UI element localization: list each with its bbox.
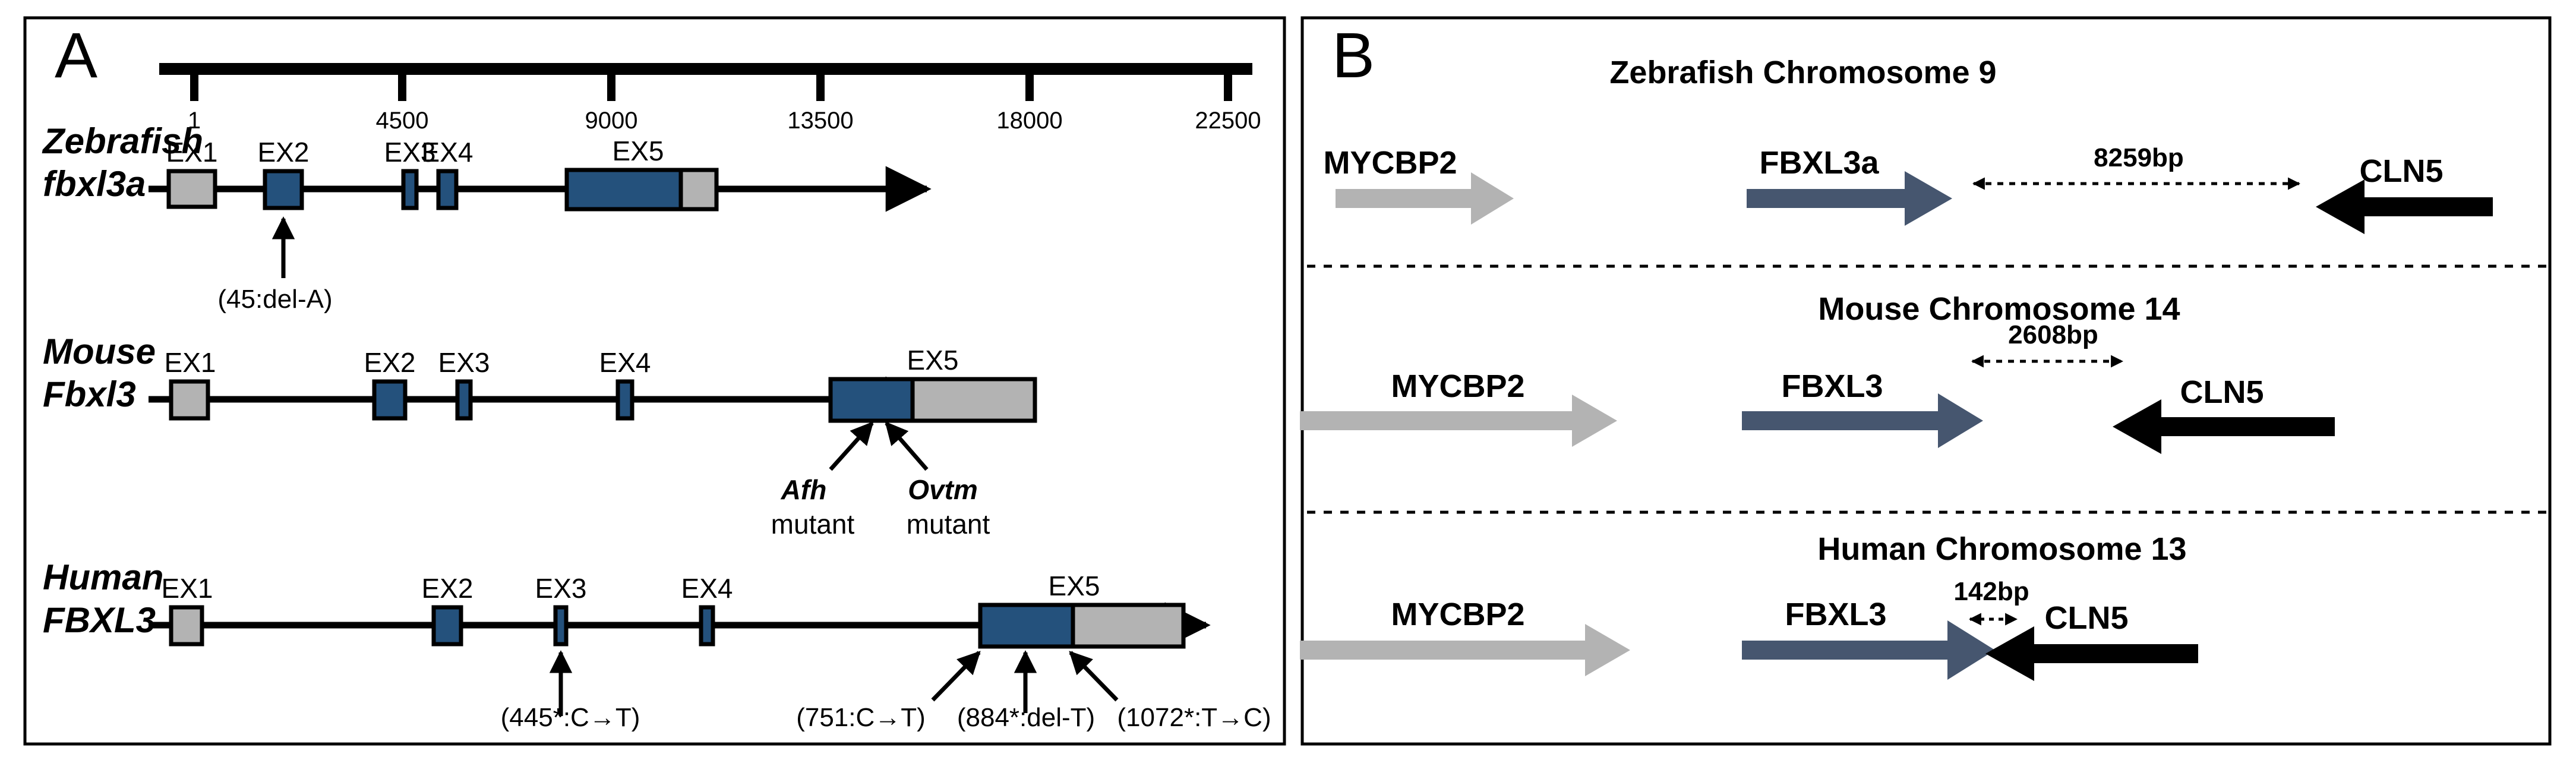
panel-a-letter: A [55,19,97,91]
panel-b-letter: B [1332,19,1375,91]
gene-label-fbxl3a: fbxl3a [43,164,146,204]
exon-mouse-ex3 [457,381,471,418]
exon-label-zebrafish-ex5: EX5 [613,135,664,166]
exon-label-zebrafish-ex1: EX1 [166,137,218,168]
exon-mouse-ex4 [618,381,632,418]
distance-label-human: 142bp [1953,577,2029,606]
exon-human-ex5-utr [1073,605,1183,647]
scale-tick-9000 [607,75,615,101]
mutant-label-afh-word: mutant [771,509,855,540]
exon-label-human-ex2: EX2 [422,573,473,604]
exon-label-mouse-ex4: EX4 [599,347,651,378]
gene-name-mycbp2-human: MYCBP2 [1391,597,1524,632]
exon-human-ex3 [555,607,566,644]
species-label-mouse: Mouse [43,332,156,371]
scale-tick-4500 [398,75,406,101]
gene-name-cln5-mouse: CLN5 [2180,374,2264,410]
mutation-label-human-1072: (1072*:T→C) [1117,703,1271,732]
exon-mouse-ex5 [831,379,1035,421]
scale-tick-label-18000: 18000 [996,108,1062,134]
scale-tick-label-22500: 22500 [1195,108,1261,134]
species-label-human: Human [43,557,163,597]
gene-name-mycbp2-zebrafish: MYCBP2 [1323,145,1457,181]
mutant-label-afh-name: Afh [781,474,827,505]
exon-label-mouse-ex5: EX5 [907,345,959,376]
scale-bar-track [159,63,1252,75]
figure-root: A B 1 4500 9000 13500 18000 22500 Zeb [0,0,2576,763]
exon-zebrafish-ex4 [438,171,456,208]
chromosome-title-zebrafish: Zebrafish Chromosome 9 [1609,55,1996,90]
scale-tick-label-4500: 4500 [376,108,429,134]
exon-label-mouse-ex2: EX2 [364,347,416,378]
exon-mouse-ex5-utr [913,379,1035,421]
scale-tick-22500 [1224,75,1232,101]
exon-label-zebrafish-ex2: EX2 [258,137,310,168]
exon-label-human-ex3: EX3 [535,573,587,604]
mutation-label-human-884: (884*:del-T) [957,703,1095,732]
gene-name-fbxl3-mouse: FBXL3 [1781,368,1883,404]
scale-tick-1 [190,75,198,101]
gene-name-fbxl3a-zebrafish: FBXL3a [1759,145,1879,181]
exon-label-zebrafish-ex4: EX4 [422,137,473,168]
mutant-label-ovtm-word: mutant [907,509,990,540]
chromosome-title-human: Human Chromosome 13 [1817,531,2186,567]
exon-human-ex2 [434,607,461,644]
exon-zebrafish-ex1 [169,171,215,207]
exon-human-ex5 [980,605,1183,647]
exon-label-mouse-ex1: EX1 [165,347,216,378]
gene-name-cln5-zebrafish: CLN5 [2359,153,2443,189]
exon-zebrafish-ex5 [567,170,716,209]
chromosome-title-mouse: Mouse Chromosome 14 [1818,291,2180,327]
mutation-label-human-751: (751:C→T) [796,703,926,732]
mutation-label-human-445: (445*:C→T) [501,703,640,732]
gene-label-fbxl3-human: FBXL3 [43,600,156,640]
scale-tick-label-13500: 13500 [787,108,853,134]
gene-name-cln5-human: CLN5 [2044,600,2128,636]
mutation-label-zebrafish-45delA: (45:del-A) [217,285,332,314]
exon-mouse-ex5-coding [831,379,913,421]
exon-zebrafish-ex3 [403,171,416,208]
gene-label-fbxl3-mouse: Fbxl3 [43,374,136,414]
mutant-label-ovtm-name: Ovtm [908,474,978,505]
exon-label-human-ex4: EX4 [681,573,733,604]
scale-tick-13500 [816,75,825,101]
scale-tick-label-9000: 9000 [585,108,638,134]
distance-label-zebrafish: 8259bp [2094,143,2184,172]
exon-zebrafish-ex2 [265,171,302,208]
exon-human-ex5-coding [980,605,1073,647]
gene-name-fbxl3-human: FBXL3 [1785,597,1886,632]
exon-mouse-ex1 [171,381,208,418]
gene-name-mycbp2-mouse: MYCBP2 [1391,368,1524,404]
exon-label-human-ex5: EX5 [1049,570,1100,601]
exon-human-ex1 [171,607,202,644]
exon-label-mouse-ex3: EX3 [438,347,490,378]
scale-tick-18000 [1025,75,1034,101]
distance-label-mouse: 2608bp [2008,320,2098,349]
exon-human-ex4 [701,607,713,644]
exon-zebrafish-ex5-coding [567,170,681,209]
exon-mouse-ex2 [374,381,405,418]
exon-label-human-ex1: EX1 [162,573,213,604]
exon-zebrafish-ex5-utr [681,170,716,209]
